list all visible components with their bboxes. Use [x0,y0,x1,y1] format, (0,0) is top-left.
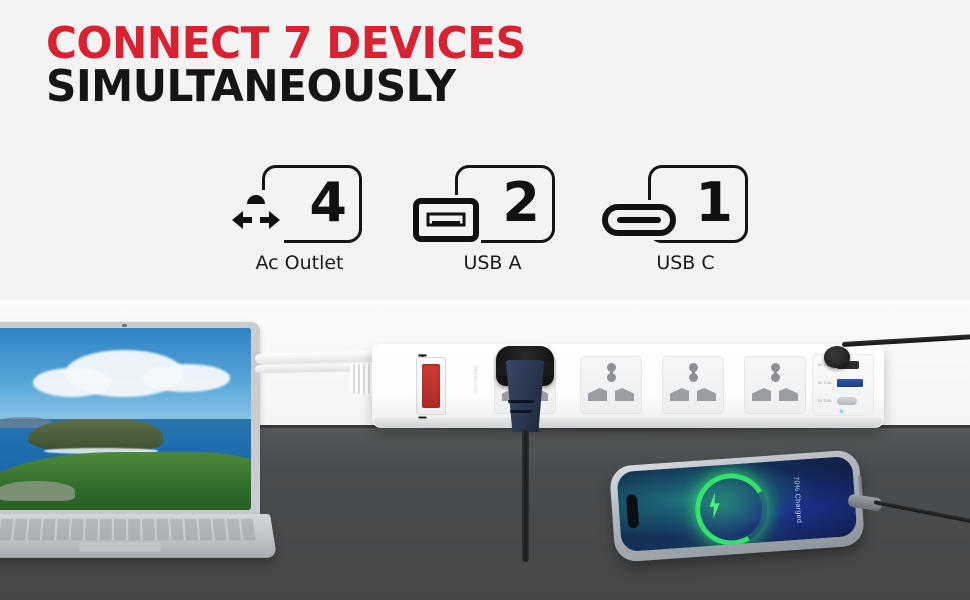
ac-outlet-icon [228,190,284,250]
plug-cable [522,430,529,562]
blue-power-plug [490,346,560,442]
phone-notch [626,494,639,529]
socket-pin-right [779,388,798,401]
phone-screen: 70% Charged [616,456,857,552]
badge-count: 4 [309,176,347,230]
laptop [0,322,278,570]
plug-body [504,360,546,432]
laptop-keyboard [0,519,256,541]
socket-earth-slot [770,363,781,383]
product-scene: Honeywell PROTECTED [0,300,970,600]
usb-a-icon [411,195,481,245]
usb-port-row[interactable]: 5V 2.4A [818,377,868,389]
badge-count: 2 [502,176,540,230]
socket-earth-slot [606,363,617,383]
power-strip: Honeywell PROTECTED [372,344,884,428]
plug-ear-left [496,362,506,376]
badge-usb-c: 1 USB C [618,165,753,274]
headline-block: CONNECT 7 DEVICES SIMULTANEOUSLY [46,22,546,108]
black-connector [824,346,850,368]
laptop-keyboard-base [0,514,277,558]
usb-c-port[interactable] [837,397,857,405]
plug-grip-line [510,410,532,413]
ac-socket[interactable] [662,356,724,414]
marketing-banner: CONNECT 7 DEVICES SIMULTANEOUSLY 4 Ac Ou… [0,0,970,600]
plug-grip-line [508,400,534,403]
headline-line-1: CONNECT 7 DEVICES [46,22,526,65]
laptop-webcam [122,324,127,327]
badge-usb-a: 2 USB A [425,165,560,274]
wallpaper-cloud [142,364,230,391]
power-indicator-led [840,410,843,413]
usb-port-row[interactable]: 5V 3.0A [818,395,868,407]
plug-ear-right [544,362,554,376]
power-strip-body: Honeywell PROTECTED [372,344,884,428]
badge-ac-outlet: 4 Ac Outlet [232,165,367,274]
badge-label: USB C [618,252,753,274]
power-strip-edge [374,418,882,428]
wallpaper-cloud [33,368,111,397]
socket-pin-right [615,388,634,401]
phone-body: 70% Charged [609,449,865,562]
spec-badge-row: 4 Ac Outlet 2 USB [232,165,753,274]
socket-pin-left [670,388,689,401]
socket-pin-left [752,388,771,401]
socket-pin-left [588,388,607,401]
smartphone: 70% Charged [609,449,865,562]
laptop-trackpad [79,542,160,551]
power-switch-rocker[interactable] [422,364,440,408]
socket-earth-slot [688,363,699,383]
laptop-lid [0,322,260,518]
badge-label: Ac Outlet [232,252,367,274]
wallpaper-rocks [0,481,75,501]
power-switch[interactable] [416,357,446,415]
headline-line-2: SIMULTANEOUSLY [46,65,526,108]
wallpaper-island [28,419,163,450]
usb-port-rating: 5V 3.0A [818,399,834,403]
badge-label: USB A [425,252,560,274]
protection-micro-text: PROTECTED [460,366,478,396]
usb-port-rating: 5V 2.4A [818,381,834,385]
laptop-screen-wallpaper [0,328,251,510]
ac-socket[interactable] [580,356,642,414]
socket-pin-right [697,388,716,401]
ac-socket[interactable] [744,356,806,414]
charge-status-text: 70% Charged [792,476,802,524]
usb-c-icon [600,200,678,240]
badge-count: 1 [695,176,733,230]
usb-a-port-blue[interactable] [837,379,863,387]
